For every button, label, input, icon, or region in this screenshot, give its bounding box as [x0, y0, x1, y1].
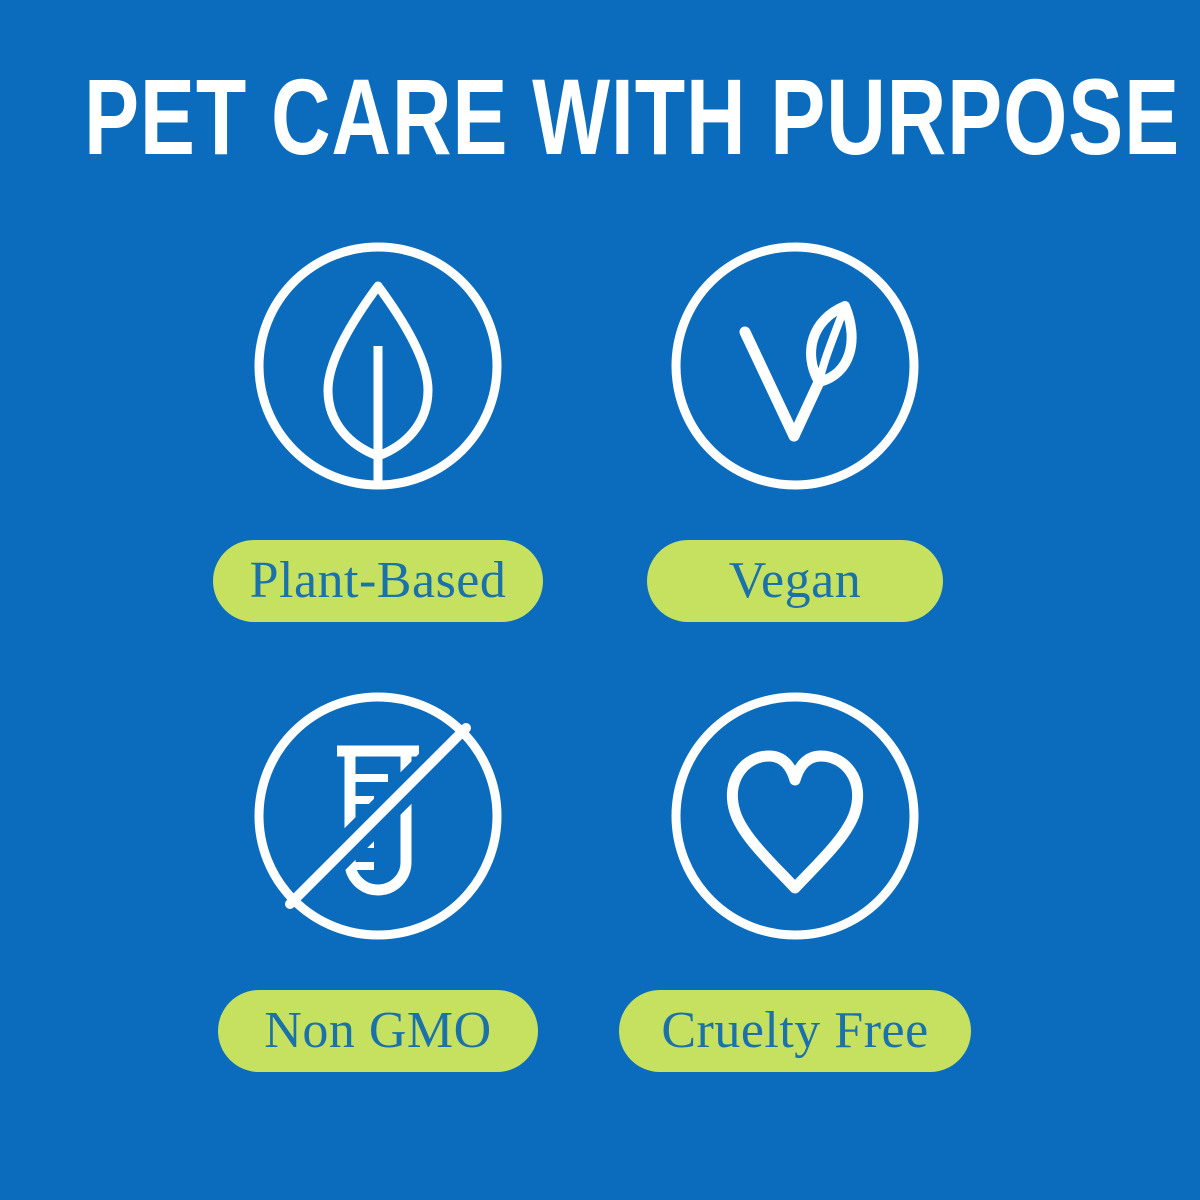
no-test-tube-icon	[252, 690, 504, 942]
poster-canvas: PET CARE WITH PURPOSE Plant-Based	[0, 0, 1200, 1200]
badge-label-text: Vegan	[729, 555, 861, 607]
badge-label-text: Non GMO	[264, 1005, 491, 1057]
leaf-in-circle-icon	[252, 240, 504, 492]
badge-label-text: Plant-Based	[250, 555, 507, 607]
badge-non-gmo[interactable]: Non GMO	[158, 690, 598, 1110]
badge-label-text: Cruelty Free	[661, 1005, 928, 1057]
heart-in-circle-icon	[669, 690, 921, 942]
badge-label-pill[interactable]: Vegan	[647, 540, 943, 622]
badge-grid: Plant-Based Vegan	[0, 240, 1200, 1140]
badge-label-pill[interactable]: Cruelty Free	[619, 990, 971, 1072]
badge-vegan[interactable]: Vegan	[575, 240, 1015, 660]
badge-plant-based[interactable]: Plant-Based	[158, 240, 598, 660]
v-leaf-in-circle-icon	[669, 240, 921, 492]
badge-cruelty-free[interactable]: Cruelty Free	[575, 690, 1015, 1110]
page-title: PET CARE WITH PURPOSE	[84, 60, 1116, 176]
badge-label-pill[interactable]: Plant-Based	[213, 540, 543, 622]
badge-label-pill[interactable]: Non GMO	[218, 990, 538, 1072]
